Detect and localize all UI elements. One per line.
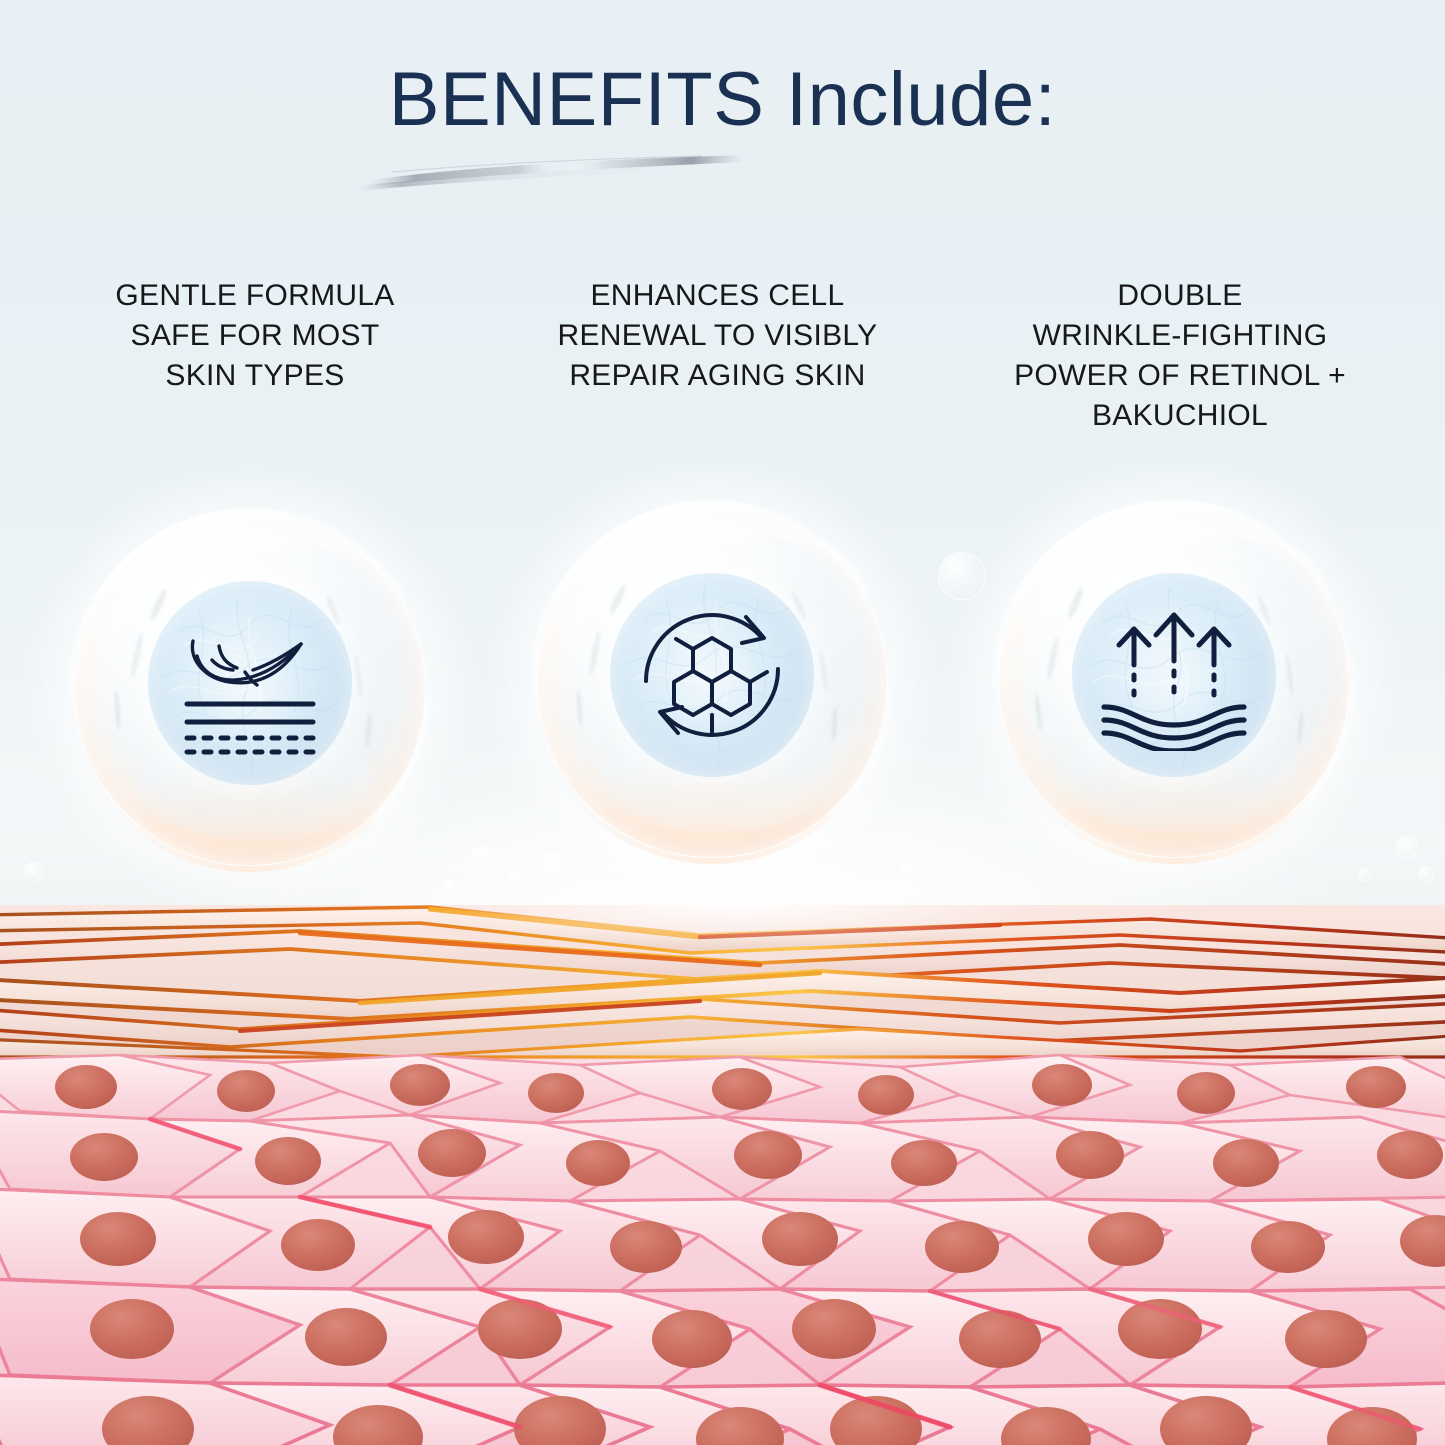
feather-on-skin-layers-icon <box>175 608 325 758</box>
benefit-line: POWER OF RETINOL + <box>965 356 1395 396</box>
skin-illustration <box>0 905 1445 1445</box>
floating-bubble <box>900 862 916 878</box>
infographic-canvas: BENEFITS Include: <box>0 0 1445 1445</box>
benefit-line: ENHANCES CELL <box>505 276 930 316</box>
floating-bubble <box>508 872 525 889</box>
page-title: BENEFITS Include: <box>0 62 1445 138</box>
floating-bubble <box>444 880 459 895</box>
benefit-line: WRINKLE-FIGHTING <box>965 316 1395 356</box>
floating-bubble <box>576 880 596 900</box>
benefit-text-gentle-formula: GENTLE FORMULA SAFE FOR MOST SKIN TYPES <box>45 276 465 396</box>
floating-bubble <box>938 552 986 600</box>
bubble-core <box>1072 573 1276 777</box>
floating-bubble <box>1358 868 1371 881</box>
benefit-bubble-wrinkle-fighting <box>992 500 1356 864</box>
benefit-line: SAFE FOR MOST <box>45 316 465 356</box>
benefit-line: RENEWAL TO VISIBLY <box>505 316 930 356</box>
page-title-block: BENEFITS Include: <box>0 62 1445 138</box>
benefit-text-columns: GENTLE FORMULA SAFE FOR MOST SKIN TYPES … <box>0 276 1445 456</box>
bubble-core <box>610 573 814 777</box>
benefit-line: BAKUCHIOL <box>965 396 1395 436</box>
floating-bubble <box>540 852 570 882</box>
molecule-renewal-cycle-icon <box>634 597 790 753</box>
benefit-text-wrinkle-fighting: DOUBLE WRINKLE-FIGHTING POWER OF RETINOL… <box>965 276 1395 436</box>
skin-cross-section <box>0 905 1445 1445</box>
icon-holder <box>148 581 352 785</box>
lifting-arrows-over-waves-icon <box>1098 599 1250 751</box>
icon-holder <box>1072 573 1276 777</box>
benefit-text-cell-renewal: ENHANCES CELL RENEWAL TO VISIBLY REPAIR … <box>505 276 930 396</box>
benefit-line: GENTLE FORMULA <box>45 276 465 316</box>
floating-bubble <box>470 846 494 870</box>
benefit-bubble-cell-renewal <box>530 500 894 864</box>
icon-holder <box>610 573 814 777</box>
bubble-core <box>148 581 352 785</box>
floating-bubble <box>24 862 43 881</box>
benefit-bubble-gentle-formula <box>68 508 432 872</box>
benefit-line: SKIN TYPES <box>45 356 465 396</box>
benefit-line: DOUBLE <box>965 276 1395 316</box>
floating-bubble <box>1418 866 1434 882</box>
benefit-line: REPAIR AGING SKIN <box>505 356 930 396</box>
floating-bubble <box>1396 836 1418 858</box>
